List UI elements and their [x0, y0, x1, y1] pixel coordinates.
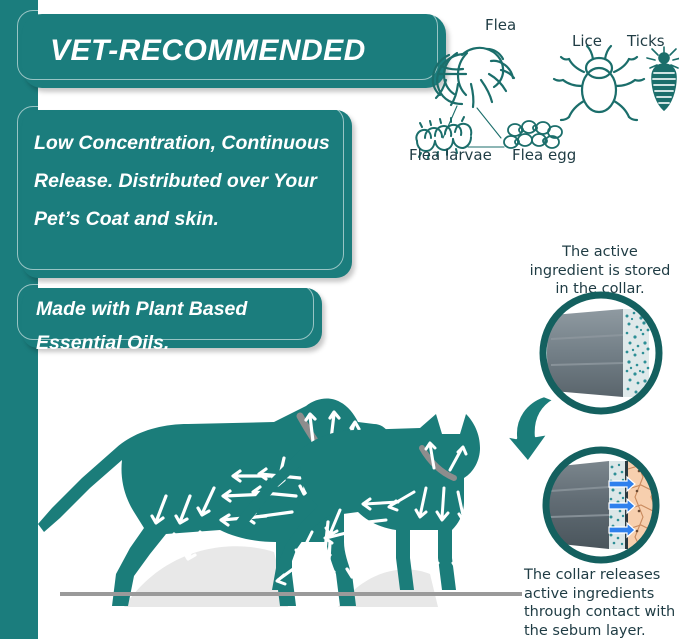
transfer-arrows [609, 477, 635, 537]
flea-egg-label: Flea egg [512, 146, 576, 164]
collar-caption-bottom: The collar releases active ingredients t… [524, 566, 676, 639]
feature-text-2: Made with Plant Based Essential Oils. [36, 292, 314, 360]
infographic-canvas: VET-RECOMMENDED Low Concentration, Conti… [0, 0, 679, 639]
flea-larvae-label: Flea larvae [409, 146, 492, 164]
collar-closeup-bottom [531, 443, 671, 567]
pet-coverage-illustration [38, 392, 538, 639]
flea-egg-icon [504, 121, 562, 148]
lice-label: Lice [572, 32, 602, 50]
flea-icon [433, 48, 514, 107]
ground-line [60, 592, 522, 596]
parasite-diagram: Flea Lice Ticks Flea larvae Flea egg [405, 8, 679, 178]
header-badge: VET-RECOMMENDED [22, 14, 446, 88]
feature-text-1: Low Concentration, Continuous Release. D… [34, 124, 342, 238]
feature-badge-low-concentration: Low Concentration, Continuous Release. D… [22, 110, 352, 278]
lice-icon [554, 46, 644, 120]
ticks-label: Ticks [627, 32, 665, 50]
flea-label: Flea [485, 16, 516, 34]
page-title: VET-RECOMMENDED [50, 36, 366, 66]
ticks-icon [647, 47, 679, 110]
feature-badge-plant-based: Made with Plant Based Essential Oils. [22, 288, 322, 348]
